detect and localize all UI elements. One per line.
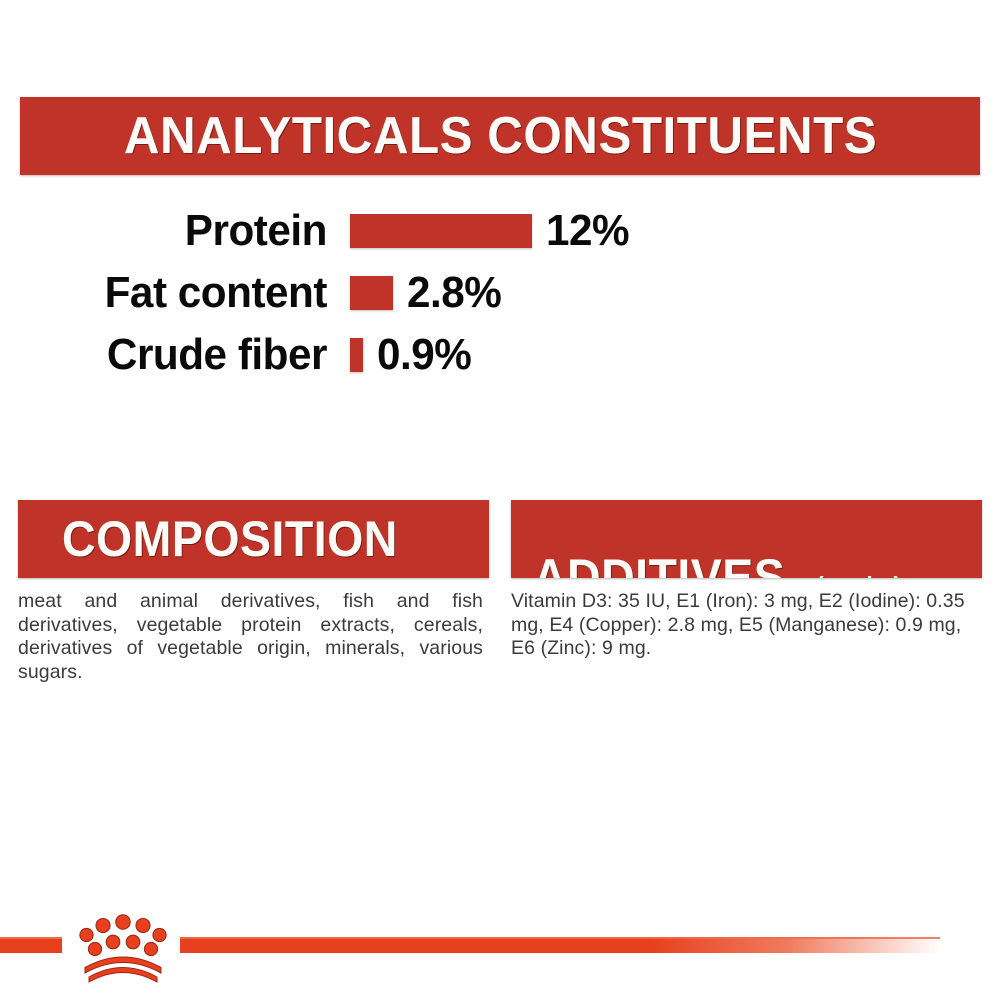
constituent-bar-protein: [350, 214, 532, 248]
crown-arc-lower: [89, 968, 157, 983]
constituent-value-fat-content: 2.8%: [407, 271, 501, 315]
constituent-value-crude-fiber: 0.9%: [377, 333, 471, 377]
constituent-row-protein: Protein 12%: [0, 200, 1000, 262]
constituent-bar-fat-content: [350, 276, 393, 310]
constituent-row-fat-content: Fat content 2.8%: [0, 262, 1000, 324]
royal-canin-crown-icon: [68, 908, 178, 988]
constituent-label-fat-content: Fat content: [14, 271, 350, 315]
constituent-label-crude-fiber: Crude fiber: [14, 333, 350, 377]
constituent-bar-crude-fiber: [350, 338, 363, 372]
additives-banner: ADDITIVES (per kg): [511, 500, 982, 578]
composition-text: meat and animal derivatives, fish and fi…: [18, 590, 483, 684]
analytical-constituents-title: ANALYTICALS CONSTITUENTS: [123, 110, 876, 162]
composition-title: COMPOSITION: [62, 514, 398, 564]
composition-banner: COMPOSITION: [18, 500, 489, 578]
additives-title: ADDITIVES: [533, 552, 785, 578]
analytical-constituents-banner: ANALYTICALS CONSTITUENTS: [20, 97, 980, 175]
additives-subtitle: (per kg): [816, 574, 901, 578]
footer-rule-left: [0, 937, 62, 953]
constituent-label-protein: Protein: [14, 209, 350, 253]
analytical-constituents-chart: Protein 12% Fat content 2.8% Crude fiber…: [0, 200, 1000, 386]
brand-footer: [0, 900, 1000, 1000]
additives-text: Vitamin D3: 35 IU, E1 (Iron): 3 mg, E2 (…: [511, 590, 984, 661]
constituent-value-protein: 12%: [546, 209, 629, 253]
footer-rule-right: [180, 937, 940, 953]
constituent-row-crude-fiber: Crude fiber 0.9%: [0, 324, 1000, 386]
